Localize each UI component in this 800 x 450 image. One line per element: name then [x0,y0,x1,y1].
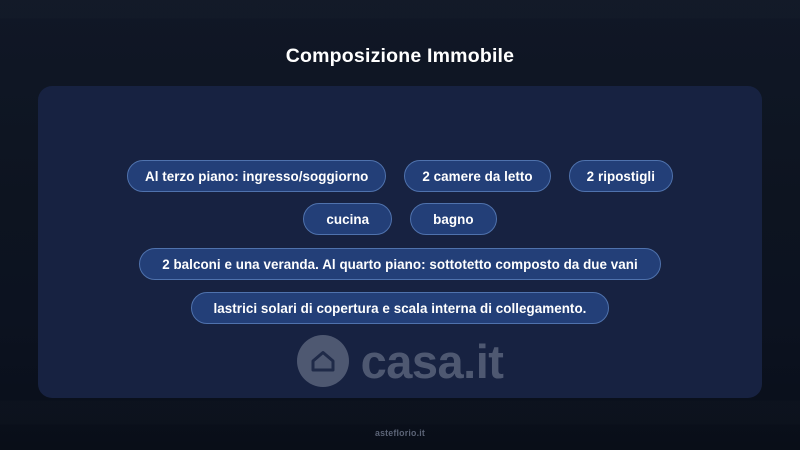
composition-pill: cucina [303,203,392,235]
pill-row: lastrici solari di copertura e scala int… [38,292,762,324]
pill-row: cucina bagno [38,203,762,235]
composition-pill: bagno [410,203,496,235]
composition-pill: 2 balconi e una veranda. Al quarto piano… [139,248,661,280]
composition-pill: Al terzo piano: ingresso/soggiorno [127,160,386,192]
footer-source-label: asteflorio.it [0,428,800,438]
composition-pill: lastrici solari di copertura e scala int… [191,292,610,324]
composition-pill: 2 camere da letto [404,160,550,192]
pill-row: Al terzo piano: ingresso/soggiorno 2 cam… [38,160,762,192]
content-card: casa.it Al terzo piano: ingresso/soggior… [38,86,762,398]
composition-pill: 2 ripostigli [569,160,673,192]
slide-canvas: Composizione Immobile casa.it Al terzo p… [0,0,800,450]
composition-pill-list: Al terzo piano: ingresso/soggiorno 2 cam… [38,86,762,398]
page-title: Composizione Immobile [0,45,800,68]
pill-row: 2 balconi e una veranda. Al quarto piano… [38,248,762,280]
